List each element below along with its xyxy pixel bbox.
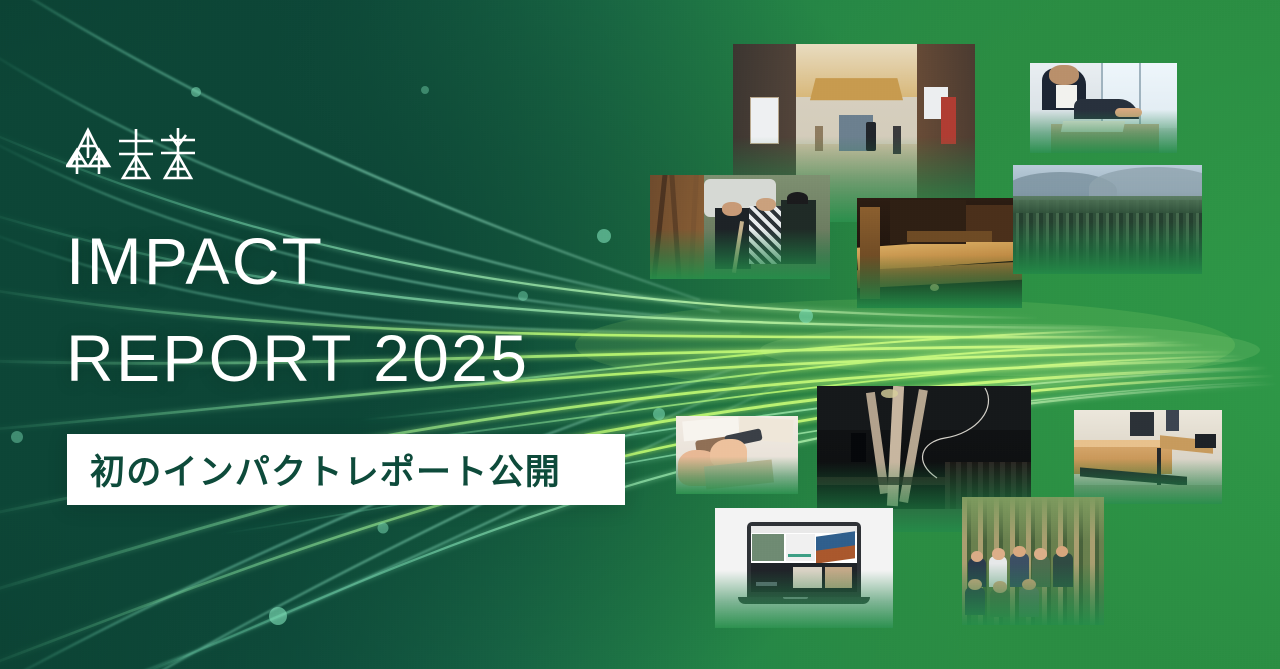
photo-timber-workshop-people	[650, 175, 830, 279]
photo-laptop-website-mockup	[715, 508, 893, 628]
triple-cedar-glyph	[67, 130, 109, 174]
photo-wood-bench-furniture	[1074, 410, 1222, 504]
impact-report-hero-banner: IMPACT REPORT 2025 初のインパクトレポート公開	[0, 0, 1280, 669]
page-title-line-1: IMPACT	[66, 228, 324, 294]
photo-team-group-in-forest	[962, 497, 1104, 625]
photo-hands-wood-samples	[676, 416, 798, 494]
cedar-cross-glyph	[119, 129, 153, 178]
page-title-line-2: REPORT 2025	[66, 325, 529, 391]
photo-office-worker-laptop	[1030, 63, 1177, 153]
subtitle-text: 初のインパクトレポート公開	[90, 444, 561, 495]
photo-cedar-forest-mountain	[1013, 165, 1202, 274]
cedar-arrow-glyph	[161, 128, 195, 178]
photo-sawmill-beam	[857, 198, 1022, 308]
three-cedar-mark-logo	[66, 126, 216, 184]
subtitle-banner: 初のインパクトレポート公開	[67, 434, 625, 505]
